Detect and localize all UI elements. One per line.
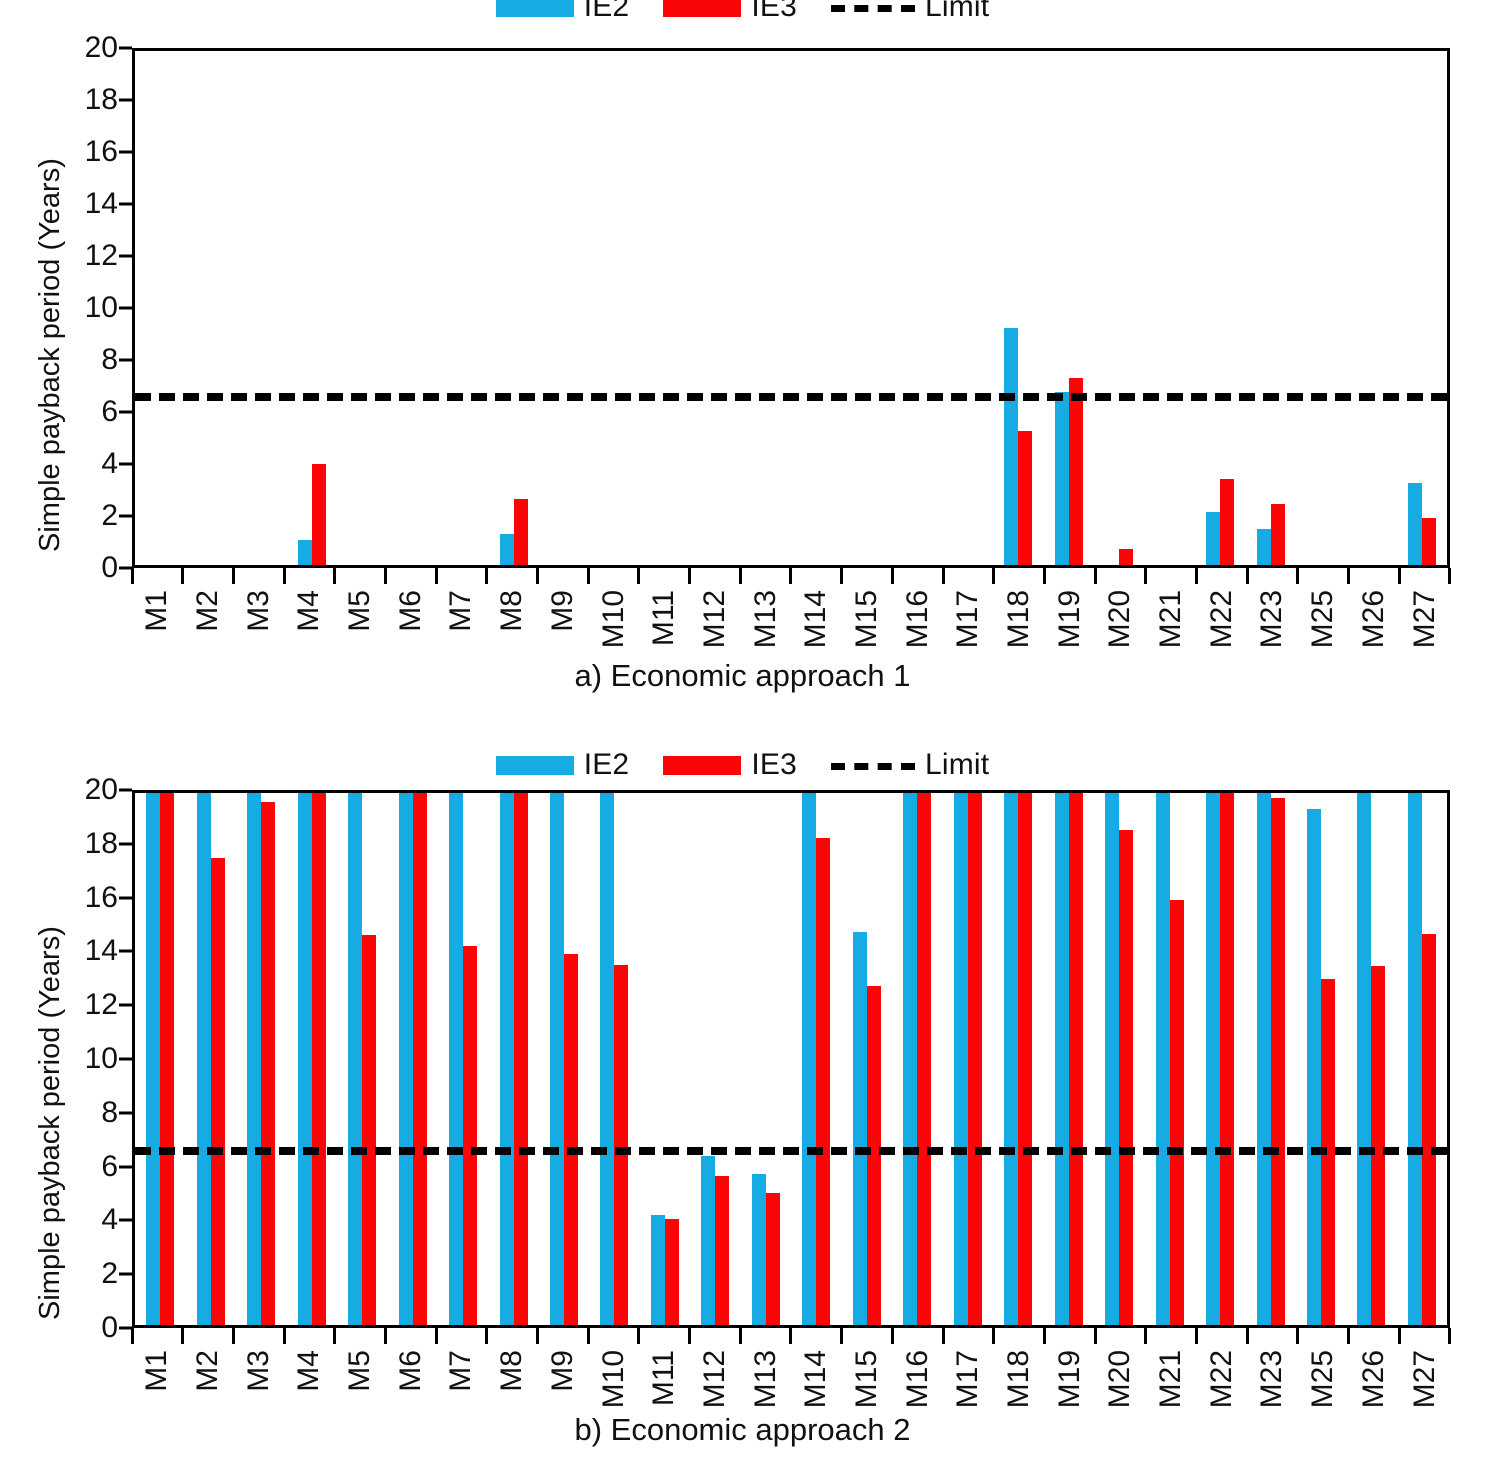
legend-dashed-line-icon [831, 763, 915, 770]
bar-ie2-m21[interactable] [1156, 790, 1170, 1325]
bar-ie2-m8[interactable] [500, 790, 514, 1325]
x-axis-label-cell: M2 [183, 586, 234, 666]
x-axis-tick-label: M3 [244, 1350, 274, 1392]
x-axis-tick-mark [1298, 568, 1349, 584]
bar-group [438, 51, 488, 565]
x-axis-tick-label: M10 [599, 1350, 629, 1408]
y-axis-tick-label: 16 [85, 883, 118, 913]
x-axis-tick-label: M22 [1207, 1350, 1237, 1408]
bar-group [1144, 793, 1194, 1325]
x-axis-tick-mark [690, 568, 741, 584]
x-axis-label-cell: M25 [1298, 586, 1349, 666]
x-axis-tick-label: M13 [751, 590, 781, 648]
bar-group [1397, 51, 1447, 565]
bar-ie3-m20[interactable] [1119, 549, 1133, 565]
x-axis-tick-label: M17 [953, 1350, 983, 1408]
bar-ie3-m11[interactable] [665, 1219, 679, 1325]
x-axis-tick-label: M18 [1004, 590, 1034, 648]
x-axis-tick-mark [791, 568, 842, 584]
x-axis-tick-mark [1298, 1328, 1349, 1344]
x-axis-tick-label: M2 [193, 590, 223, 632]
x-axis-tick-mark [538, 568, 589, 584]
bar-ie3-m20[interactable] [1119, 830, 1133, 1325]
bar-ie3-m16[interactable] [917, 790, 931, 1325]
bar-group [135, 793, 185, 1325]
x-axis-tick-mark [132, 1328, 183, 1344]
bar-ie3-m6[interactable] [413, 790, 427, 1325]
x-axis-tick-mark [1247, 1328, 1298, 1344]
x-axis-label-cell: M22 [1196, 586, 1247, 666]
limit-line-a [135, 393, 1447, 401]
legend-item-label: IE3 [751, 750, 797, 780]
x-axis-tick-label: M11 [649, 590, 679, 646]
x-axis-tick-mark [1146, 1328, 1197, 1344]
legend-color-swatch-icon [496, 756, 574, 775]
legend-dashed-line-icon [831, 5, 915, 12]
x-axis-label-cell: M11 [639, 586, 690, 666]
x-axis-tick-mark [1247, 568, 1298, 584]
y-axis-tick-mark [119, 1219, 132, 1222]
bar-ie2-m6[interactable] [399, 790, 413, 1325]
y-axis-tick-mark [119, 896, 132, 899]
x-axis-label-cell: M21 [1146, 586, 1197, 666]
x-axis-label-cell: M27 [1399, 586, 1450, 666]
x-axis-label-cell: M26 [1349, 586, 1400, 666]
x-axis-tick-mark [1349, 1328, 1400, 1344]
plot-canvas-b [132, 790, 1450, 1328]
x-axis-tick-label: M15 [852, 1350, 882, 1408]
legend-item-label: Limit [925, 0, 989, 22]
bar-ie2-m10[interactable] [600, 790, 614, 1325]
x-axis-tick-mark [132, 568, 183, 584]
x-axis-tick-mark [284, 1328, 335, 1344]
y-axis-tick-label: 8 [101, 1098, 118, 1128]
bar-ie2-m15[interactable] [853, 932, 867, 1325]
figure-root: IE2IE3Limit Simple payback period (Years… [0, 0, 1485, 1480]
bar-ie2-m2[interactable] [197, 790, 211, 1325]
bar-ie3-m1[interactable] [160, 790, 174, 1325]
x-axis-ticks-b [132, 1328, 1450, 1344]
bar-ie2-m5[interactable] [348, 790, 362, 1325]
x-axis-tick-mark [436, 1328, 487, 1344]
x-axis-tick-mark [892, 1328, 943, 1344]
bar-ie3-m13[interactable] [766, 1193, 780, 1325]
bar-ie3-m8[interactable] [514, 790, 528, 1325]
bar-ie3-m27[interactable] [1422, 518, 1436, 565]
y-axis-tick-mark [119, 515, 132, 518]
bar-group [286, 793, 336, 1325]
y-axis-tick-label: 4 [101, 449, 118, 479]
x-axis-tick-label: M5 [345, 590, 375, 632]
bar-ie3-m5[interactable] [362, 935, 376, 1325]
x-axis-tick-label: M27 [1410, 590, 1440, 648]
bar-ie2-m12[interactable] [701, 1156, 715, 1325]
x-axis-tick-mark [335, 1328, 386, 1344]
x-axis-tick-mark [1095, 1328, 1146, 1344]
y-axis-tick-mark [119, 359, 132, 362]
bar-ie3-m3[interactable] [261, 802, 275, 1325]
bar-ie3-m22[interactable] [1220, 790, 1234, 1325]
bar-ie2-m19[interactable] [1055, 392, 1069, 565]
y-axis-tick-label: 12 [85, 990, 118, 1020]
bar-ie3-m19[interactable] [1069, 790, 1083, 1325]
y-axis-tick-label: 10 [85, 293, 118, 323]
x-axis-tick-mark [842, 1328, 893, 1344]
x-axis-tick-label: M19 [1055, 1350, 1085, 1408]
x-axis-label-cell: M5 [335, 586, 386, 666]
x-axis-tick-mark [740, 568, 791, 584]
y-axis-b: 02468101214161820 [60, 790, 132, 1328]
bar-ie2-m18[interactable] [1004, 790, 1018, 1325]
x-axis-tick-label: M18 [1004, 1350, 1034, 1408]
bar-group [286, 51, 336, 565]
bar-group [842, 793, 892, 1325]
bar-ie3-m23[interactable] [1271, 504, 1285, 565]
bar-ie3-m17[interactable] [968, 790, 982, 1325]
bar-ie3-m23[interactable] [1271, 798, 1285, 1325]
bar-ie3-m14[interactable] [816, 838, 830, 1325]
bar-ie2-m11[interactable] [651, 1215, 665, 1325]
bar-ie3-m26[interactable] [1371, 966, 1385, 1325]
x-axis-tick-label: M12 [700, 590, 730, 648]
bar-ie2-m8[interactable] [500, 534, 514, 565]
bar-ie2-m7[interactable] [449, 790, 463, 1325]
x-axis-label-cell: M19 [1044, 586, 1095, 666]
x-axis-tick-label: M6 [396, 1350, 426, 1392]
bar-ie3-m15[interactable] [867, 986, 881, 1325]
bar-group [1296, 793, 1346, 1325]
x-axis-label-cell: M18 [994, 586, 1045, 666]
bar-ie3-m4[interactable] [312, 464, 326, 565]
x-axis-tick-label: M21 [1156, 590, 1186, 648]
legend-item-label: Limit [925, 750, 989, 780]
bar-group [387, 51, 437, 565]
x-axis-labels-a: M1M2M3M4M5M6M7M8M9M10M11M12M13M14M15M16M… [132, 586, 1450, 666]
bar-ie3-m19[interactable] [1069, 378, 1083, 565]
plot-canvas-a [132, 48, 1450, 568]
x-axis-label-cell: M15 [842, 586, 893, 666]
y-axis-tick-mark [119, 1111, 132, 1114]
y-axis-tick-label: 18 [85, 829, 118, 859]
y-axis-tick-mark [119, 99, 132, 102]
x-axis-tick-label: M27 [1410, 1350, 1440, 1408]
x-axis-tick-label: M14 [801, 1350, 831, 1408]
x-axis-tick-label: M5 [345, 1350, 375, 1392]
x-axis-tick-label: M11 [649, 1350, 679, 1406]
x-axis-tick-mark [1399, 1328, 1450, 1344]
bar-group [741, 51, 791, 565]
y-axis-tick-mark [119, 463, 132, 466]
bar-group [135, 51, 185, 565]
bar-group [589, 793, 639, 1325]
legend-ie3[interactable]: IE3 [663, 0, 797, 22]
legend-ie3[interactable]: IE3 [663, 750, 797, 780]
chart-legend-b: IE2IE3Limit [0, 750, 1485, 780]
x-axis-tick-label: M2 [193, 1350, 223, 1392]
bar-group [589, 51, 639, 565]
y-axis-tick-label: 10 [85, 1044, 118, 1074]
x-axis-label-cell: M8 [487, 586, 538, 666]
x-axis-tick-mark [639, 1328, 690, 1344]
x-axis-tick-label: M8 [497, 590, 527, 632]
x-axis-tick-label: M26 [1359, 1350, 1389, 1408]
bar-group [539, 793, 589, 1325]
bar-group [1346, 793, 1396, 1325]
bar-group [1094, 793, 1144, 1325]
x-axis-label-cell: M10 [588, 586, 639, 666]
bar-ie3-m2[interactable] [211, 858, 225, 1325]
panel-subtitle-a: a) Economic approach 1 [0, 658, 1485, 694]
x-axis-tick-label: M19 [1055, 590, 1085, 648]
bar-group [1144, 51, 1194, 565]
bar-ie2-m16[interactable] [903, 790, 917, 1325]
bar-ie2-m20[interactable] [1105, 790, 1119, 1325]
x-axis-tick-label: M22 [1207, 590, 1237, 648]
y-axis-tick-mark [119, 255, 132, 258]
x-axis-tick-label: M26 [1359, 590, 1389, 648]
bar-ie2-m4[interactable] [298, 790, 312, 1325]
bar-group [842, 51, 892, 565]
bar-group [488, 793, 538, 1325]
bar-group [1195, 793, 1245, 1325]
y-axis-tick-label: 4 [101, 1205, 118, 1235]
x-axis-tick-mark [1399, 568, 1450, 584]
x-axis-tick-label: M3 [244, 590, 274, 632]
y-axis-tick-mark [119, 1165, 132, 1168]
x-axis-tick-label: M17 [953, 590, 983, 648]
bar-ie2-m13[interactable] [752, 1174, 766, 1325]
bar-series-b [135, 793, 1447, 1325]
legend-ie2[interactable]: IE2 [496, 0, 630, 22]
bar-ie2-m26[interactable] [1357, 790, 1371, 1325]
bar-group [1094, 51, 1144, 565]
x-axis-tick-mark [385, 568, 436, 584]
x-axis-tick-mark [588, 568, 639, 584]
bar-ie2-m9[interactable] [550, 790, 564, 1325]
bar-ie2-m3[interactable] [247, 790, 261, 1325]
legend-item-label: IE3 [751, 0, 797, 22]
x-axis-tick-mark [690, 1328, 741, 1344]
bar-group [640, 51, 690, 565]
x-axis-tick-mark [1044, 568, 1095, 584]
bar-ie3-m9[interactable] [564, 954, 578, 1325]
legend-ie2[interactable]: IE2 [496, 750, 630, 780]
x-axis-label-cell: M3 [233, 586, 284, 666]
bar-ie3-m18[interactable] [1018, 790, 1032, 1325]
bar-group [539, 51, 589, 565]
bar-group [185, 51, 235, 565]
x-axis-tick-mark [994, 568, 1045, 584]
x-axis-tick-mark [943, 568, 994, 584]
bar-ie2-m18[interactable] [1004, 328, 1018, 565]
bar-ie2-m14[interactable] [802, 790, 816, 1325]
bar-group [993, 793, 1043, 1325]
x-axis-tick-mark [487, 1328, 538, 1344]
chart-legend-a: IE2IE3Limit [0, 0, 1485, 22]
y-axis-tick-mark [119, 1273, 132, 1276]
y-axis-tick-mark [119, 842, 132, 845]
x-axis-tick-mark [588, 1328, 639, 1344]
panel-economic-approach-2: IE2IE3Limit Simple payback period (Years… [0, 712, 1485, 1480]
x-axis-label-cell: M23 [1247, 586, 1298, 666]
y-axis-tick-mark [119, 1004, 132, 1007]
x-axis-tick-label: M20 [1105, 1350, 1135, 1408]
x-axis-tick-label: M23 [1257, 1350, 1287, 1408]
bar-group [640, 793, 690, 1325]
y-axis-a: 02468101214161820 [60, 48, 132, 568]
bar-ie2-m23[interactable] [1257, 529, 1271, 565]
x-axis-tick-mark [183, 1328, 234, 1344]
bar-group [488, 51, 538, 565]
y-axis-tick-mark [119, 411, 132, 414]
x-axis-tick-label: M9 [548, 1350, 578, 1392]
x-axis-tick-mark [1196, 1328, 1247, 1344]
x-axis-tick-label: M10 [599, 590, 629, 648]
x-axis-tick-label: M25 [1308, 1350, 1338, 1408]
bar-ie3-m10[interactable] [614, 965, 628, 1325]
bar-ie2-m1[interactable] [146, 790, 160, 1325]
x-axis-tick-mark [1044, 1328, 1095, 1344]
x-axis-tick-label: M12 [700, 1350, 730, 1408]
bar-ie2-m27[interactable] [1408, 483, 1422, 565]
bar-ie2-m23[interactable] [1257, 790, 1271, 1325]
panel-subtitle-b: b) Economic approach 2 [0, 1412, 1485, 1448]
bar-ie3-m18[interactable] [1018, 431, 1032, 565]
bar-ie2-m4[interactable] [298, 540, 312, 565]
bar-group [1346, 51, 1396, 565]
plot-area-b: 02468101214161820 M1M2M3M4M5M6M7M8M9M10M… [60, 790, 1450, 1328]
x-axis-tick-mark [892, 568, 943, 584]
legend-limit[interactable]: Limit [831, 750, 989, 780]
x-axis-tick-mark [943, 1328, 994, 1344]
legend-color-swatch-icon [663, 0, 741, 17]
bar-group [1043, 793, 1093, 1325]
x-axis-label-cell: M12 [690, 586, 741, 666]
x-axis-tick-mark [1196, 568, 1247, 584]
x-axis-tick-mark [1349, 568, 1400, 584]
x-axis-label-cell: M9 [538, 586, 589, 666]
x-axis-tick-label: M4 [294, 590, 324, 632]
bar-ie2-m19[interactable] [1055, 790, 1069, 1325]
bar-group [943, 51, 993, 565]
bar-group [993, 51, 1043, 565]
bar-group [791, 51, 841, 565]
bar-series-a [135, 51, 1447, 565]
bar-ie3-m7[interactable] [463, 946, 477, 1325]
x-axis-tick-mark [335, 568, 386, 584]
bar-group [1245, 793, 1295, 1325]
x-axis-tick-label: M16 [903, 590, 933, 648]
bar-group [1245, 51, 1295, 565]
bar-ie3-m21[interactable] [1170, 900, 1184, 1325]
bar-ie3-m4[interactable] [312, 790, 326, 1325]
bar-group [337, 51, 387, 565]
x-axis-tick-label: M15 [852, 590, 882, 648]
bar-ie3-m12[interactable] [715, 1176, 729, 1325]
bar-group [741, 793, 791, 1325]
plot-area-a: 02468101214161820 M1M2M3M4M5M6M7M8M9M10M… [60, 48, 1450, 568]
x-axis-tick-label: M14 [801, 590, 831, 648]
bar-group [1296, 51, 1346, 565]
x-axis-tick-mark [233, 1328, 284, 1344]
legend-limit[interactable]: Limit [831, 0, 989, 22]
x-axis-tick-mark [538, 1328, 589, 1344]
x-axis-tick-label: M7 [446, 590, 476, 632]
y-axis-tick-label: 12 [85, 241, 118, 271]
bar-group [438, 793, 488, 1325]
bar-ie2-m25[interactable] [1307, 809, 1321, 1325]
bar-ie3-m22[interactable] [1220, 479, 1234, 565]
x-axis-label-cell: M7 [436, 586, 487, 666]
bar-group [892, 793, 942, 1325]
x-axis-tick-mark [385, 1328, 436, 1344]
x-axis-tick-label: M13 [751, 1350, 781, 1408]
y-axis-tick-mark [119, 307, 132, 310]
x-axis-tick-label: M23 [1257, 590, 1287, 648]
bar-group [1195, 51, 1245, 565]
bar-ie2-m22[interactable] [1206, 790, 1220, 1325]
x-axis-label-cell: M13 [740, 586, 791, 666]
bar-ie3-m8[interactable] [514, 499, 528, 565]
x-axis-tick-label: M20 [1105, 590, 1135, 648]
y-axis-tick-mark [119, 950, 132, 953]
x-axis-label-cell: M1 [132, 586, 183, 666]
bar-ie2-m27[interactable] [1408, 790, 1422, 1325]
y-axis-tick-label: 18 [85, 85, 118, 115]
legend-item-label: IE2 [584, 0, 630, 22]
x-axis-tick-label: M16 [903, 1350, 933, 1408]
x-axis-label-cell: M17 [943, 586, 994, 666]
x-axis-label-cell: M6 [385, 586, 436, 666]
bar-group [1043, 51, 1093, 565]
x-axis-label-cell: M4 [284, 586, 335, 666]
y-axis-tick-label: 14 [85, 936, 118, 966]
x-axis-tick-mark [233, 568, 284, 584]
bar-group [337, 793, 387, 1325]
limit-line-b [135, 1147, 1447, 1155]
bar-ie2-m17[interactable] [954, 790, 968, 1325]
x-axis-label-cell: M20 [1095, 586, 1146, 666]
x-axis-tick-label: M7 [446, 1350, 476, 1392]
y-axis-tick-mark [119, 151, 132, 154]
y-axis-tick-label: 20 [85, 33, 118, 63]
y-axis-tick-mark [119, 789, 132, 792]
bar-ie2-m22[interactable] [1206, 512, 1220, 565]
x-axis-tick-label: M9 [548, 590, 578, 632]
bar-group [791, 793, 841, 1325]
x-axis-tick-mark [284, 568, 335, 584]
bar-ie3-m27[interactable] [1422, 934, 1436, 1325]
legend-color-swatch-icon [663, 756, 741, 775]
y-axis-tick-mark [119, 1058, 132, 1061]
bar-group [690, 51, 740, 565]
x-axis-tick-label: M4 [294, 1350, 324, 1392]
y-axis-tick-mark [119, 47, 132, 50]
x-axis-tick-mark [842, 568, 893, 584]
y-axis-tick-label: 20 [85, 775, 118, 805]
x-axis-tick-label: M6 [396, 590, 426, 632]
y-axis-tick-label: 2 [101, 501, 118, 531]
x-axis-tick-label: M1 [142, 1350, 172, 1392]
x-axis-tick-label: M25 [1308, 590, 1338, 648]
x-axis-tick-label: M21 [1156, 1350, 1186, 1408]
x-axis-tick-label: M8 [497, 1350, 527, 1392]
x-axis-tick-mark [740, 1328, 791, 1344]
x-axis-tick-mark [1146, 568, 1197, 584]
bar-group [892, 51, 942, 565]
legend-color-swatch-icon [496, 0, 574, 17]
bar-group [943, 793, 993, 1325]
